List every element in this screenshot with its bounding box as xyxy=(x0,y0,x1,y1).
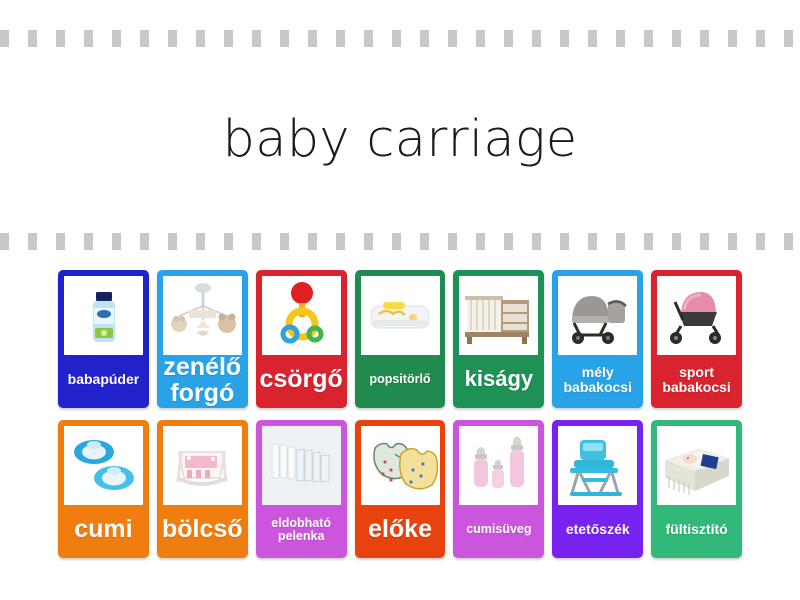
answer-card[interactable]: etetőszék xyxy=(552,420,643,558)
answer-card[interactable]: cumisüveg xyxy=(453,420,544,558)
musical-mobile-image xyxy=(163,276,242,355)
pram-image xyxy=(558,276,637,355)
answer-card-label: fültisztító xyxy=(653,505,740,558)
baby-powder-bottle-image xyxy=(64,276,143,355)
answer-card-label: cumisüveg xyxy=(455,505,542,558)
answer-card-label: kiságy xyxy=(455,355,542,408)
dashed-separator-top xyxy=(0,30,800,47)
answer-card-row: babapúder zenélő forgó csörgő popsitörlő xyxy=(58,270,742,408)
prompt-text: baby carriage xyxy=(223,112,578,168)
stroller-image xyxy=(657,276,736,355)
answer-card[interactable]: előke xyxy=(355,420,446,558)
answer-card[interactable]: csörgő xyxy=(256,270,347,408)
baby-wipes-image xyxy=(361,276,440,355)
cotton-buds-box-image xyxy=(657,426,736,505)
baby-bottle-image xyxy=(459,426,538,505)
answer-card-label: sport babakocsi xyxy=(653,355,740,408)
answer-card[interactable]: zenélő forgó xyxy=(157,270,248,408)
answer-card[interactable]: mély babakocsi xyxy=(552,270,643,408)
answer-card-label: mély babakocsi xyxy=(554,355,641,408)
cradle-image xyxy=(163,426,242,505)
disposable-nappy-image xyxy=(262,426,341,505)
answer-card-label: bölcső xyxy=(159,505,246,558)
bib-image xyxy=(361,426,440,505)
answer-card[interactable]: kiságy xyxy=(453,270,544,408)
answer-card-board: babapúder zenélő forgó csörgő popsitörlő xyxy=(58,270,742,558)
answer-card[interactable]: sport babakocsi xyxy=(651,270,742,408)
answer-card[interactable]: cumi xyxy=(58,420,149,558)
baby-rattle-image xyxy=(262,276,341,355)
answer-card-label: eldobható pelenka xyxy=(258,505,345,558)
answer-card-label: cumi xyxy=(60,505,147,558)
answer-card[interactable]: babapúder xyxy=(58,270,149,408)
pacifier-image xyxy=(64,426,143,505)
answer-card[interactable]: bölcső xyxy=(157,420,248,558)
answer-card-label: csörgő xyxy=(258,355,345,408)
answer-card-label: zenélő forgó xyxy=(159,355,246,408)
answer-card[interactable]: eldobható pelenka xyxy=(256,420,347,558)
answer-card[interactable]: fültisztító xyxy=(651,420,742,558)
baby-crib-image xyxy=(459,276,538,355)
high-chair-image xyxy=(558,426,637,505)
prompt-area: baby carriage xyxy=(0,47,800,233)
answer-card-label: popsitörlő xyxy=(357,355,444,408)
answer-card-label: előke xyxy=(357,505,444,558)
answer-card[interactable]: popsitörlő xyxy=(355,270,446,408)
dashed-separator-middle xyxy=(0,233,800,250)
answer-card-label: etetőszék xyxy=(554,505,641,558)
answer-card-label: babapúder xyxy=(60,355,147,408)
answer-card-row: cumi bölcső eldobható pelenka xyxy=(58,420,742,558)
